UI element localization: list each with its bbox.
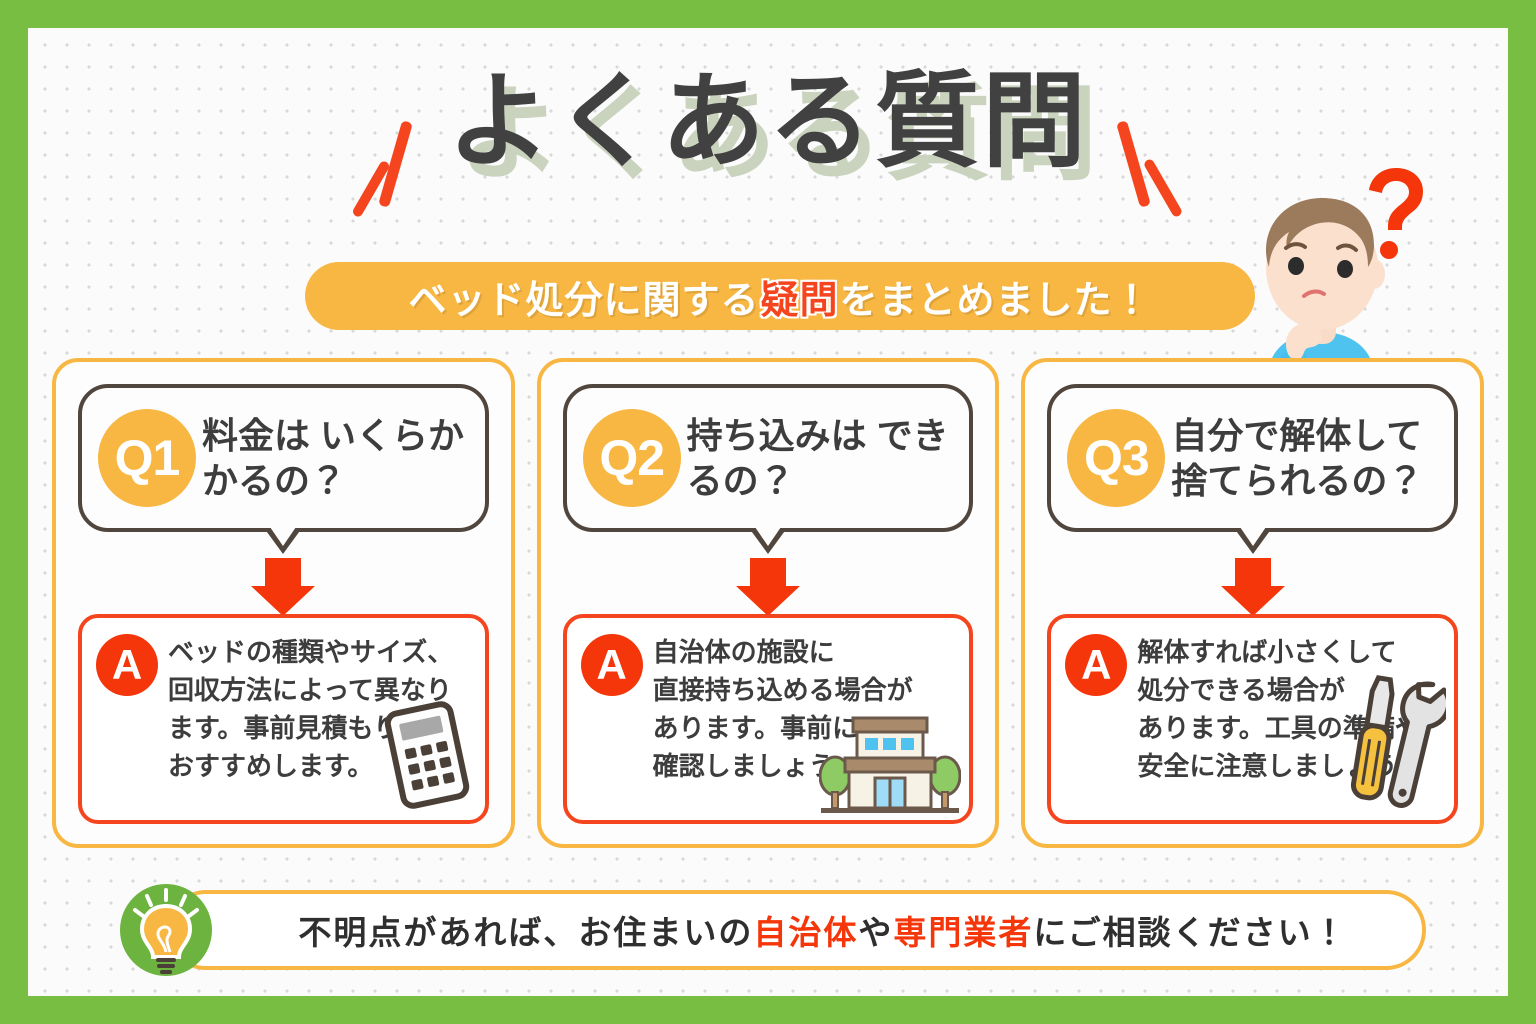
subtitle-after: をまとめました！: [840, 269, 1152, 324]
subtitle-before: ベッド処分に関する: [408, 269, 759, 324]
answer-badge: A: [96, 634, 158, 696]
footer-text: 不明点があれば、お住まいの自治体や専門業者にご相談ください！: [244, 906, 1347, 954]
lightbulb-icon: [116, 880, 216, 980]
tools-icon: [1334, 674, 1446, 814]
footer-seg-highlight: 自治体: [753, 914, 858, 951]
page-title: よくある質問: [447, 66, 1089, 178]
question-badge: Q3: [1067, 409, 1165, 507]
question-text: 料金は いくらかかるの？: [202, 413, 485, 504]
footer-bar: 不明点があれば、お住まいの自治体や専門業者にご相談ください！: [166, 890, 1426, 970]
down-arrow-icon: [1221, 558, 1285, 616]
faq-card: Q3 自分で解体して 捨てられるの？ A 解体すれば小さくして 処分できる場合が…: [1021, 358, 1484, 848]
question-text: 自分で解体して 捨てられるの？: [1171, 413, 1454, 504]
footer-seg: や: [858, 914, 893, 951]
answer-badge: A: [581, 634, 643, 696]
question-mark-icon: [1369, 168, 1423, 259]
question-badge: Q1: [98, 409, 196, 507]
infographic-root: よくある質問 ベッド処分に関する疑問をまとめました！: [0, 0, 1536, 1024]
answer-badge: A: [1065, 634, 1127, 696]
subtitle-highlight: 疑問: [759, 269, 839, 324]
calculator-icon: [379, 700, 475, 810]
question-bubble: Q2 持ち込みは できるの？: [563, 384, 974, 532]
footer-seg: 不明点があれば、お住まいの: [298, 914, 753, 951]
question-bubble: Q3 自分で解体して 捨てられるの？: [1047, 384, 1458, 532]
answer-box: A 解体すれば小さくして 処分できる場合が あります。工具の準備や 安全に注意し…: [1047, 614, 1458, 824]
header: よくある質問 ベッド処分に関する疑問をまとめました！: [0, 28, 1536, 328]
answer-box: A ベッドの種類やサイズ、 回収方法によって異なり ます。事前見積もりを おすす…: [78, 614, 489, 824]
down-arrow-icon: [736, 558, 800, 616]
faq-card: Q1 料金は いくらかかるの？ A ベッドの種類やサイズ、 回収方法によって異な…: [52, 358, 515, 848]
faq-card: Q2 持ち込みは できるの？ A 自治体の施設に 直接持ち込める場合が あります…: [537, 358, 1000, 848]
down-arrow-icon: [251, 558, 315, 616]
footer-seg-highlight: 専門業者: [893, 914, 1033, 951]
subtitle-text: ベッド処分に関する疑問をまとめました！: [408, 269, 1151, 324]
answer-box: A 自治体の施設に 直接持ち込める場合が あります。事前に 確認しましょう。: [563, 614, 974, 824]
question-badge: Q2: [583, 409, 681, 507]
footer-seg: にご相談ください！: [1033, 914, 1347, 951]
faq-card-list: Q1 料金は いくらかかるの？ A ベッドの種類やサイズ、 回収方法によって異な…: [52, 358, 1484, 848]
subtitle-banner: ベッド処分に関する疑問をまとめました！: [305, 262, 1255, 330]
question-bubble: Q1 料金は いくらかかるの？: [78, 384, 489, 532]
question-text: 持ち込みは できるの？: [687, 413, 970, 504]
building-icon: [819, 704, 961, 816]
footer: 不明点があれば、お住まいの自治体や専門業者にご相談ください！: [116, 880, 1426, 976]
